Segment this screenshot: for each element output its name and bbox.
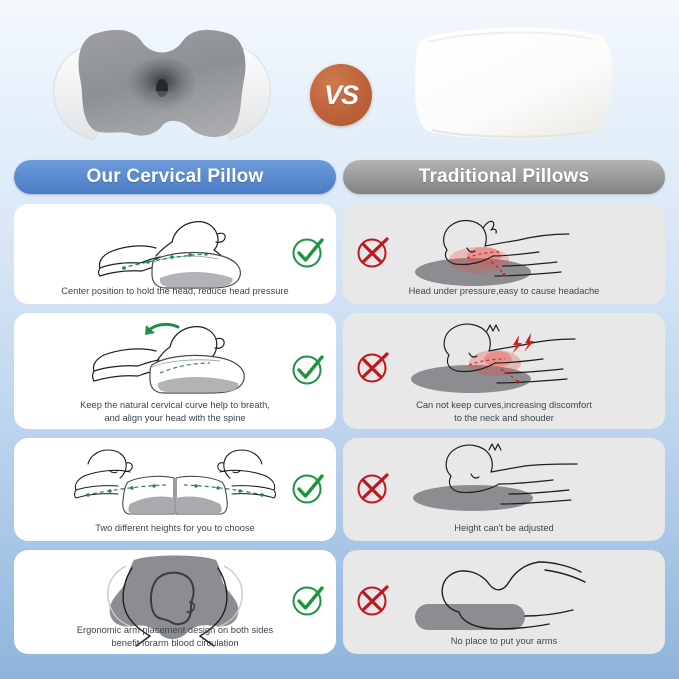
cervical-pillow-photo: [22, 12, 302, 152]
pillow-comparison-infographic: VS Our Cervical Pillow: [0, 0, 679, 679]
feature-card-two-heights: Two different heights for you to choose: [14, 438, 336, 541]
drawback-card-no-curve-support: Can not keep curves,increasing discomfor…: [343, 313, 665, 429]
caption-cervical-curve: Keep the natural cervical curve help to …: [14, 399, 336, 424]
header-label: Our Cervical Pillow: [87, 166, 264, 188]
hero-product-section: VS: [0, 0, 679, 160]
drawback-card-no-arm-space: No place to put your arms: [343, 550, 665, 654]
vs-label: VS: [324, 80, 358, 111]
cross-icon: [353, 347, 393, 387]
check-icon: [288, 468, 328, 508]
header-label: Traditional Pillows: [419, 166, 590, 188]
drawback-card-fixed-height: Height can't be adjusted: [343, 438, 665, 541]
header-traditional-pillows: Traditional Pillows: [343, 160, 665, 194]
caption-fixed-height: Height can't be adjusted: [343, 522, 665, 535]
caption-arm-placement: Ergonomic arm placement design on both s…: [14, 624, 336, 649]
column-traditional-pillows: Traditional Pillows: [343, 160, 665, 663]
cross-icon: [353, 468, 393, 508]
caption-two-heights: Two different heights for you to choose: [14, 522, 336, 535]
feature-card-center-position: Center position to hold the head, reduce…: [14, 204, 336, 304]
cross-icon: [353, 232, 393, 272]
feature-card-cervical-curve: Keep the natural cervical curve help to …: [14, 313, 336, 429]
vs-badge: VS: [310, 64, 372, 126]
check-icon: [288, 232, 328, 272]
traditional-pillow-photo: [404, 22, 626, 144]
caption-no-curve-support: Can not keep curves,increasing discomfor…: [343, 399, 665, 424]
comparison-columns: Our Cervical Pillow: [0, 160, 679, 679]
header-our-cervical-pillow: Our Cervical Pillow: [14, 160, 336, 194]
check-icon: [288, 349, 328, 389]
feature-card-arm-placement: Ergonomic arm placement design on both s…: [14, 550, 336, 654]
caption-center-position: Center position to hold the head, reduce…: [14, 285, 336, 298]
caption-no-arm-space: No place to put your arms: [343, 635, 665, 648]
column-our-cervical-pillow: Our Cervical Pillow: [14, 160, 336, 663]
check-icon: [288, 580, 328, 620]
drawback-card-head-pressure: Head under pressure,easy to cause headac…: [343, 204, 665, 304]
cross-icon: [353, 580, 393, 620]
caption-head-pressure: Head under pressure,easy to cause headac…: [343, 285, 665, 298]
